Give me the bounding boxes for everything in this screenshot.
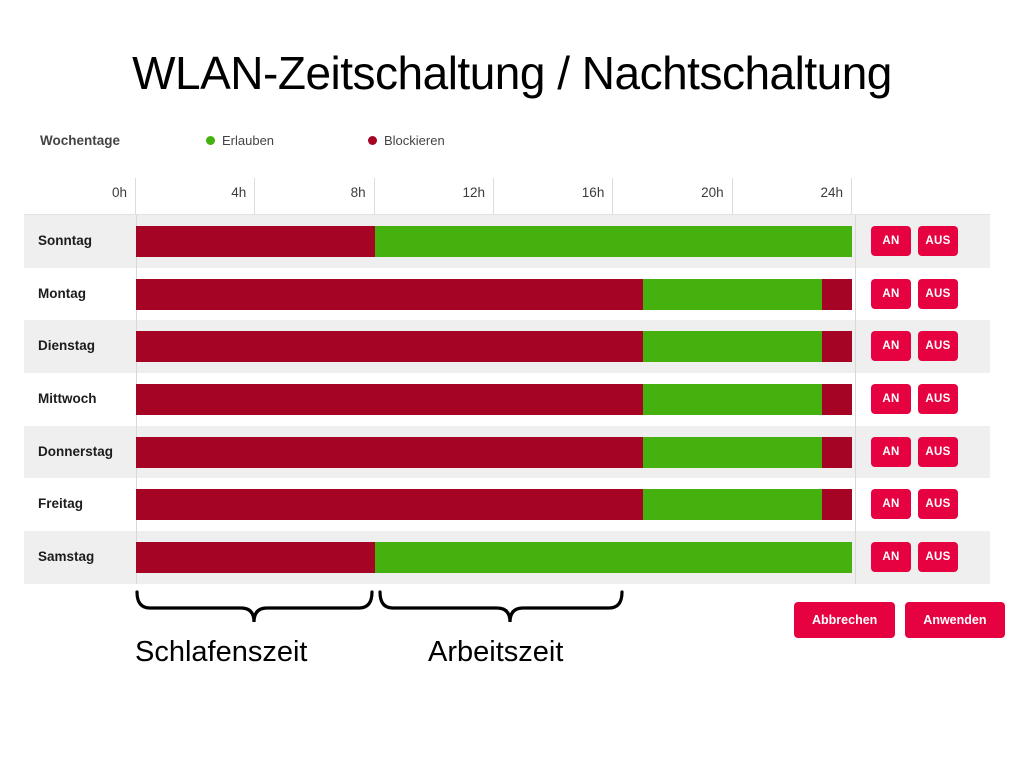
row-divider-right [855,373,856,426]
apply-button[interactable]: Anwenden [905,602,1004,638]
schedule-segment-allow[interactable] [375,226,852,257]
schedule-row: SonntagANAUS [24,215,990,268]
row-divider-right [855,215,856,268]
schedule-bar-track[interactable] [136,437,852,468]
schedule-segment-block[interactable] [136,384,643,415]
brace-sleep-icon [137,592,372,622]
schedule-segment-block[interactable] [136,226,375,257]
schedule-bar-track[interactable] [136,279,852,310]
schedule-segment-block[interactable] [136,489,643,520]
toggle-group: ANAUS [871,226,958,256]
schedule-row: DonnerstagANAUS [24,426,990,479]
time-axis-tick-label: 4h [231,185,246,200]
toggle-on-button[interactable]: AN [871,384,911,414]
toggle-group: ANAUS [871,331,958,361]
time-axis-tick-label: 12h [462,185,485,200]
toggle-off-button[interactable]: AUS [918,384,958,414]
schedule-segment-allow[interactable] [643,331,822,362]
schedule-bar-track[interactable] [136,542,852,573]
time-axis-tick-label: 16h [582,185,605,200]
dot-icon-allow [206,136,215,145]
row-divider-right [855,531,856,584]
time-axis-tick: 4h [136,178,255,214]
row-divider-right [855,426,856,479]
toggle-off-button[interactable]: AUS [918,489,958,519]
toggle-group: ANAUS [871,384,958,414]
toggle-on-button[interactable]: AN [871,542,911,572]
time-axis-tick-label: 20h [701,185,724,200]
schedule-row: DienstagANAUS [24,320,990,373]
schedule-bar-track[interactable] [136,489,852,520]
annotation-label-work: Arbeitszeit [428,636,563,669]
schedule-segment-allow[interactable] [643,437,822,468]
schedule-segment-block[interactable] [136,437,643,468]
legend-item-allow: Erlauben [206,133,368,148]
toggle-group: ANAUS [871,279,958,309]
time-axis-tail [852,178,990,214]
legend: Wochentage Erlauben Blockieren [40,130,530,150]
cancel-button[interactable]: Abbrechen [794,602,895,638]
time-axis-tick-label: 8h [351,185,366,200]
day-label: Freitag [38,478,142,531]
toggle-off-button[interactable]: AUS [918,437,958,467]
time-axis: 0h4h8h12h16h20h24h [24,178,990,215]
day-label: Mittwoch [38,373,142,426]
page-title: WLAN-Zeitschaltung / Nachtschaltung [0,46,1024,100]
toggle-on-button[interactable]: AN [871,437,911,467]
row-divider-right [855,268,856,321]
schedule-row: FreitagANAUS [24,478,990,531]
toggle-group: ANAUS [871,542,958,572]
time-axis-tick: 24h [733,178,852,214]
toggle-on-button[interactable]: AN [871,331,911,361]
toggle-off-button[interactable]: AUS [918,226,958,256]
time-axis-tick: 16h [494,178,613,214]
time-axis-tick: 0h [24,178,136,214]
schedule-segment-allow[interactable] [643,384,822,415]
time-axis-tick: 12h [375,178,494,214]
legend-item-block: Blockieren [368,133,530,148]
schedule-segment-block[interactable] [136,331,643,362]
schedule-row: SamstagANAUS [24,531,990,584]
schedule-bar-track[interactable] [136,331,852,362]
schedule-segment-block[interactable] [136,279,643,310]
schedule-segment-block[interactable] [822,384,852,415]
schedule-segment-allow[interactable] [375,542,852,573]
toggle-off-button[interactable]: AUS [918,542,958,572]
action-bar: Abbrechen Anwenden [794,602,1005,638]
schedule-segment-allow[interactable] [643,489,822,520]
time-axis-tick-label: 0h [112,185,127,200]
schedule-segment-block[interactable] [822,279,852,310]
legend-weekdays-label: Wochentage [40,133,206,148]
legend-item-block-label: Blockieren [384,133,445,148]
schedule-row: MittwochANAUS [24,373,990,426]
toggle-off-button[interactable]: AUS [918,331,958,361]
toggle-on-button[interactable]: AN [871,279,911,309]
row-divider-right [855,478,856,531]
day-label: Samstag [38,531,142,584]
brace-work-icon [380,592,622,622]
schedule-bar-track[interactable] [136,384,852,415]
schedule-row: MontagANAUS [24,268,990,321]
time-axis-tick: 8h [255,178,374,214]
schedule-segment-allow[interactable] [643,279,822,310]
toggle-on-button[interactable]: AN [871,226,911,256]
row-divider-right [855,320,856,373]
schedule-bar-track[interactable] [136,226,852,257]
toggle-group: ANAUS [871,437,958,467]
day-label: Montag [38,268,142,321]
schedule-segment-block[interactable] [136,542,375,573]
time-axis-tick-label: 24h [820,185,843,200]
day-label: Donnerstag [38,426,142,479]
toggle-on-button[interactable]: AN [871,489,911,519]
schedule-segment-block[interactable] [822,331,852,362]
toggle-group: ANAUS [871,489,958,519]
annotation-label-sleep: Schlafenszeit [135,636,308,669]
schedule-table: SonntagANAUSMontagANAUSDienstagANAUSMitt… [24,215,990,584]
time-axis-tick: 20h [613,178,732,214]
legend-item-allow-label: Erlauben [222,133,274,148]
toggle-off-button[interactable]: AUS [918,279,958,309]
day-label: Dienstag [38,320,142,373]
schedule-segment-block[interactable] [822,489,852,520]
dot-icon-block [368,136,377,145]
day-label: Sonntag [38,215,142,268]
schedule-segment-block[interactable] [822,437,852,468]
